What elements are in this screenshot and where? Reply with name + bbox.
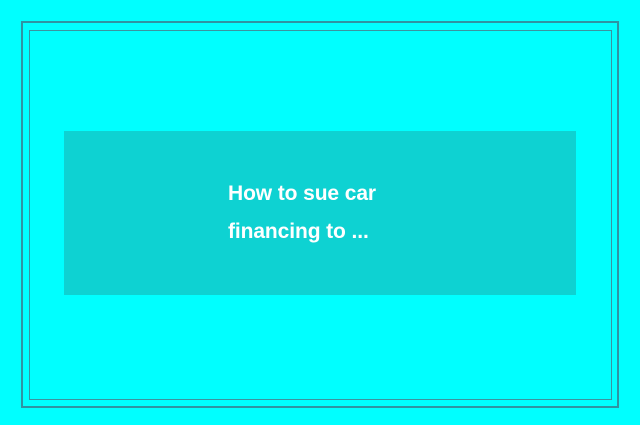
slide-canvas: How to sue car financing to ... <box>0 0 640 425</box>
title-panel: How to sue car financing to ... <box>64 131 576 295</box>
title-line-1: How to sue car <box>228 175 376 213</box>
title-line-2: financing to ... <box>228 213 369 251</box>
